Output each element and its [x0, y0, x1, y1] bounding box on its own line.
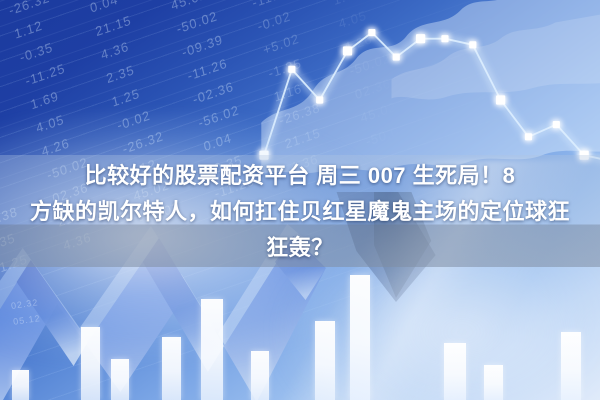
chart-node: [288, 66, 295, 73]
bar-silhouette: [111, 359, 129, 400]
bar-silhouette: [444, 343, 466, 400]
chart-node: [343, 46, 352, 55]
chart-node: [496, 95, 505, 104]
bar-silhouette: [81, 327, 100, 400]
chart-node: [469, 41, 476, 48]
bar-silhouette: [561, 332, 581, 400]
chart-node: [525, 133, 532, 140]
chart-node: [441, 35, 448, 42]
bar-silhouette: [315, 321, 335, 400]
headline-line-2: 方缺的凯尔特人，如何扛住贝红星魔鬼主场的定位球狂: [0, 194, 600, 230]
bar-silhouette: [162, 337, 181, 400]
chart-node: [368, 29, 375, 36]
headline-line-3: 狂轰？: [0, 230, 600, 266]
bar-chart-silhouettes: [0, 264, 600, 400]
chart-node: [316, 96, 323, 103]
bar-silhouette: [12, 370, 29, 400]
bar-silhouette: [251, 351, 269, 400]
headline-text: 比较好的股票配资平台 周三 007 生死局！8 方缺的凯尔特人，如何扛住贝红星魔…: [0, 158, 600, 266]
headline-line-1: 比较好的股票配资平台 周三 007 生死局！8: [0, 158, 600, 194]
bar-silhouette: [201, 299, 223, 400]
bar-silhouette: [484, 365, 503, 400]
chart-node: [416, 34, 425, 43]
banner-image: -0.3521.1545.02-0.3521.1545.02-0.35-11.2…: [0, 0, 600, 400]
bar-silhouette: [350, 275, 369, 400]
chart-node: [393, 53, 400, 60]
chart-node: [553, 121, 560, 128]
